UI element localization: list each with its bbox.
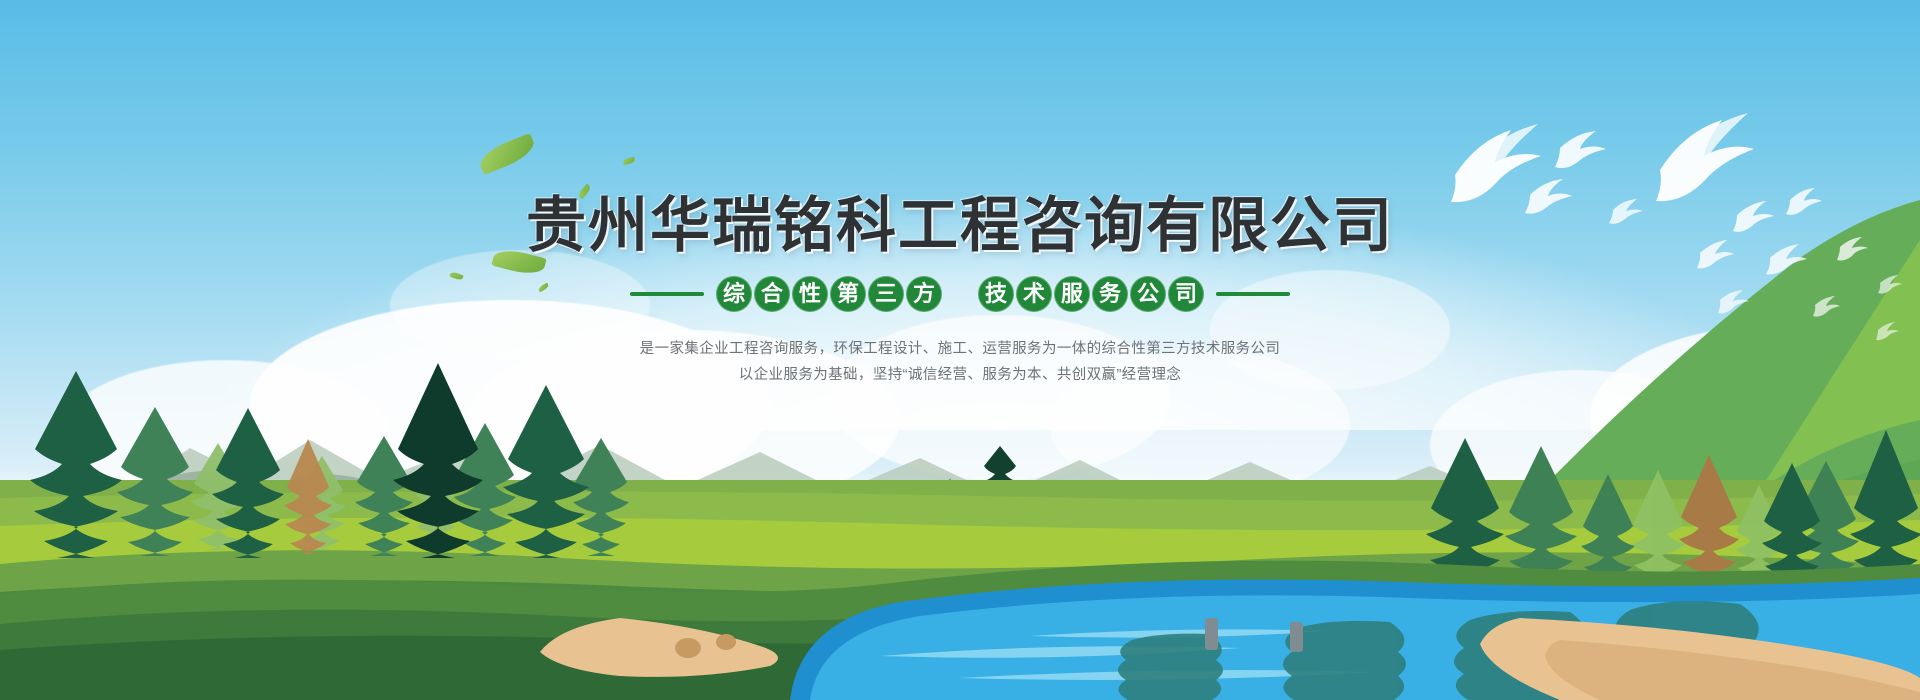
description-line-2: 以企业服务为基础，坚持“诚信经营、服务为本、共创双赢”经营理念: [0, 362, 1920, 388]
slogan-badge: 第: [830, 276, 866, 312]
leaf-icon: [623, 157, 636, 165]
banner-text-block: 贵州华瑞铭科工程咨询有限公司 综 合 性 第 三 方 技 术 服 务 公 司: [0, 196, 1920, 388]
slogan-badge: 司: [1168, 276, 1204, 312]
slogan-badge: 公: [1130, 276, 1166, 312]
slogan-badge: 务: [1092, 276, 1128, 312]
rule-right: [1216, 292, 1290, 296]
slogan-badge: 三: [868, 276, 904, 312]
page-title: 贵州华瑞铭科工程咨询有限公司: [0, 196, 1920, 256]
rule-left: [630, 292, 704, 296]
description-block: 是一家集企业工程咨询服务，环保工程设计、施工、运营服务为一体的综合性第三方技术服…: [0, 336, 1920, 388]
slogan-badge: 技: [978, 276, 1014, 312]
slogan-row: 综 合 性 第 三 方 技 术 服 务 公 司: [0, 276, 1920, 312]
slogan-badge: 合: [754, 276, 790, 312]
slogan-badge: 方: [906, 276, 942, 312]
slogan-badge: 服: [1054, 276, 1090, 312]
slogan-badge: 综: [716, 276, 752, 312]
slogan-badges-group-2: 技 术 服 务 公 司: [978, 276, 1204, 312]
leaf-icon: [476, 133, 538, 175]
slogan-badge: 性: [792, 276, 828, 312]
slogan-badges-group-1: 综 合 性 第 三 方: [716, 276, 942, 312]
company-banner: 贵州华瑞铭科工程咨询有限公司 综 合 性 第 三 方 技 术 服 务 公 司: [0, 0, 1920, 700]
slogan-badge: 术: [1016, 276, 1052, 312]
right-sandbank: [0, 600, 1920, 700]
description-line-1: 是一家集企业工程咨询服务，环保工程设计、施工、运营服务为一体的综合性第三方技术服…: [0, 336, 1920, 362]
